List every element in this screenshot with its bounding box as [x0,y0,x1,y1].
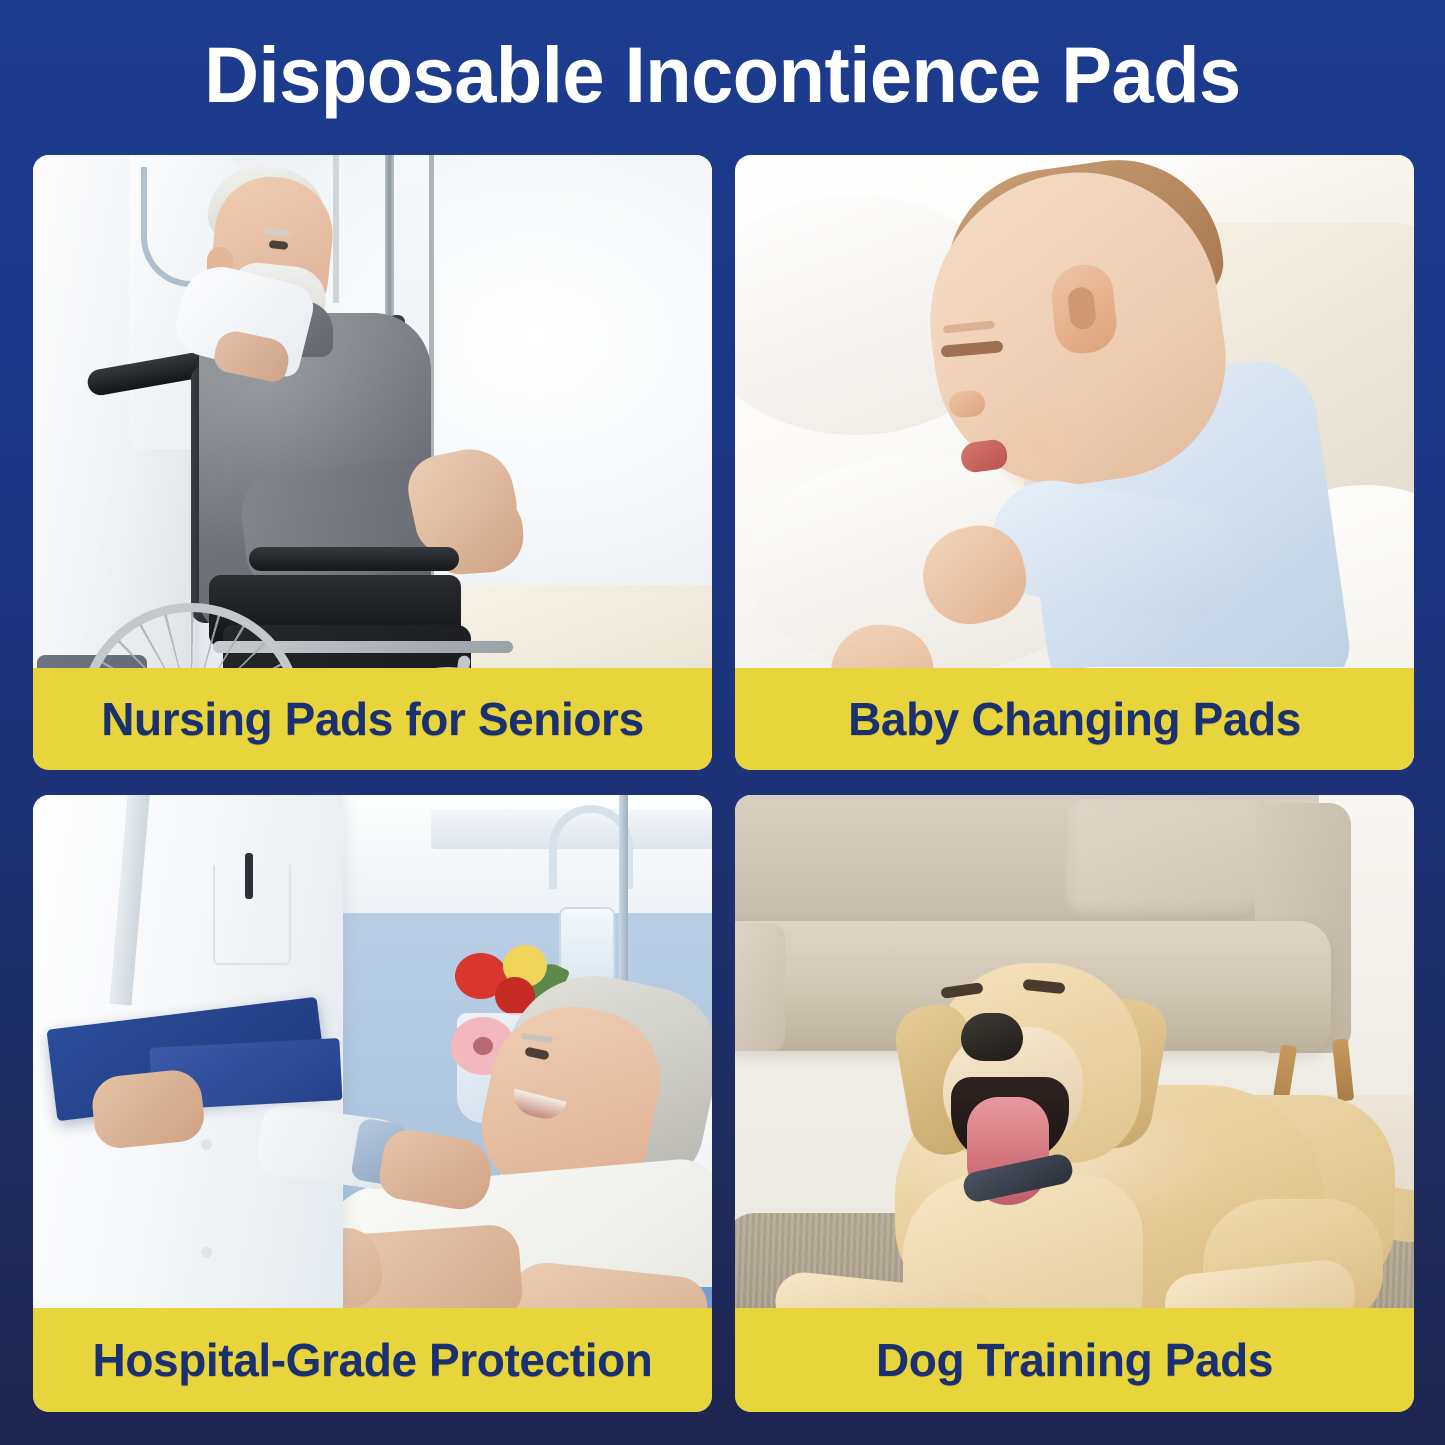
card-caption: Baby Changing Pads [735,668,1414,770]
feature-grid: Nursing Pads for Seniors Baby Changing P… [33,155,1412,1412]
card-caption: Hospital-Grade Protection [33,1308,712,1412]
feature-card-hospital-grade-protection[interactable]: Hospital-Grade Protection [33,795,712,1412]
card-caption: Dog Training Pads [735,1308,1414,1412]
feature-card-baby-changing-pads[interactable]: Baby Changing Pads [735,155,1414,770]
feature-card-dog-training-pads[interactable]: Dog Training Pads [735,795,1414,1412]
page-title: Disposable Incontience Pads [29,0,1416,150]
feature-card-nursing-pads-for-seniors[interactable]: Nursing Pads for Seniors [33,155,712,770]
card-caption: Nursing Pads for Seniors [33,668,712,770]
